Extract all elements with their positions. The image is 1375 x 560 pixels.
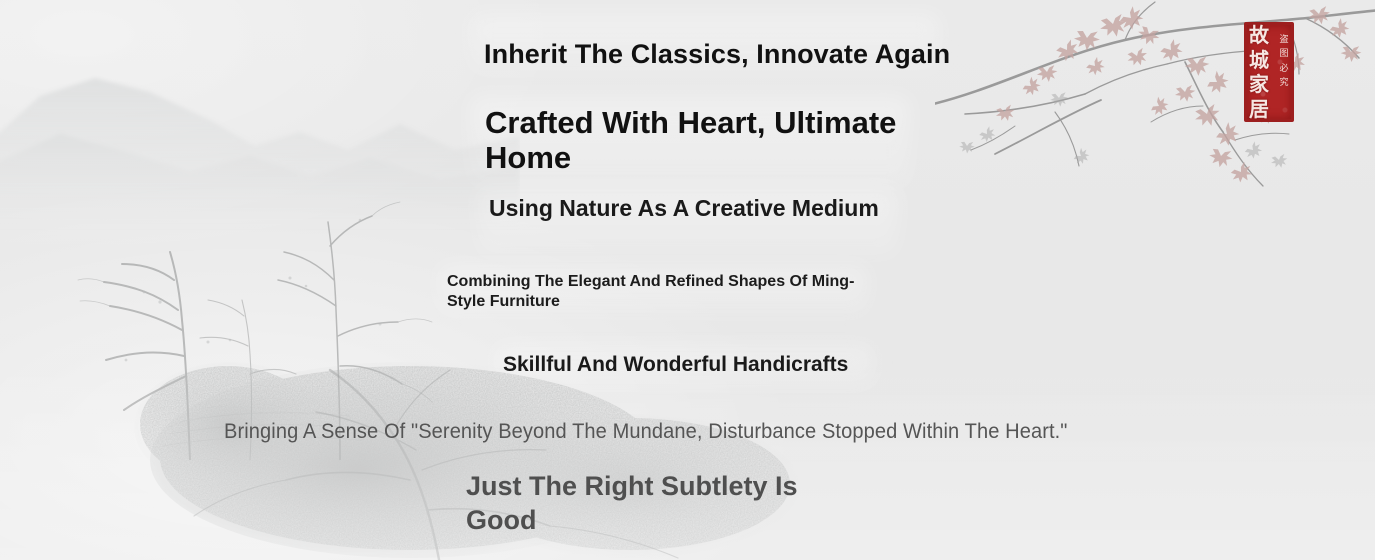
banner-canvas: Inherit The Classics, Innovate Again Cra… xyxy=(0,0,1375,560)
seal-notice-char-4: 究 xyxy=(1279,79,1288,88)
seal-char-2: 城 xyxy=(1249,50,1269,70)
brand-seal: 故 城 家 居 盗 图 必 究 xyxy=(1244,22,1294,122)
subheading-handicrafts: Skillful And Wonderful Handicrafts xyxy=(503,352,848,377)
seal-notice-char-3: 必 xyxy=(1279,65,1288,74)
subheading-nature: Using Nature As A Creative Medium xyxy=(489,195,909,223)
seal-char-3: 家 xyxy=(1249,74,1269,94)
closing-subtlety: Just The Right Subtlety Is Good xyxy=(466,470,846,538)
headline-primary: Inherit The Classics, Innovate Again xyxy=(484,38,950,72)
seal-brand-characters: 故 城 家 居 xyxy=(1246,25,1272,119)
maple-branch-artwork xyxy=(935,0,1375,209)
ink-trees-artwork xyxy=(40,160,510,460)
mist-mountains-artwork xyxy=(0,0,520,230)
quote-serenity: Bringing A Sense Of "Serenity Beyond The… xyxy=(224,420,1068,444)
seal-char-4: 居 xyxy=(1249,99,1269,119)
seal-char-1: 故 xyxy=(1249,25,1269,45)
headline-secondary: Crafted With Heart, Ultimate Home xyxy=(485,106,925,175)
seal-notice-char-2: 图 xyxy=(1279,50,1288,59)
body-ming-style: Combining The Elegant And Refined Shapes… xyxy=(447,272,877,312)
seal-notice-characters: 盗 图 必 究 xyxy=(1277,36,1291,88)
seal-notice-char-1: 盗 xyxy=(1279,36,1288,45)
